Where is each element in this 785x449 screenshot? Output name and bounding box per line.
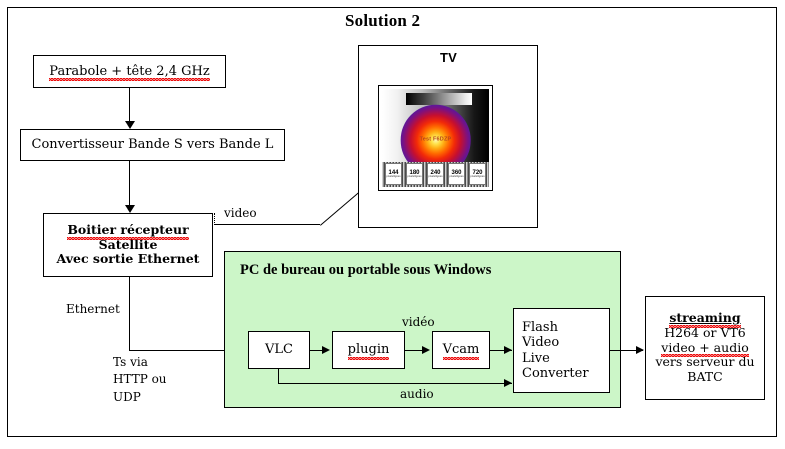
resolution-sub: pixels/lignes — [407, 176, 421, 179]
test-pattern-resolution-cell: 180 pixels/lignes — [406, 163, 424, 185]
edge-convertisseur-boitier — [129, 161, 130, 207]
node-streaming: streaming H264 or VT6 video + audio vers… — [645, 296, 765, 400]
arrow-down-convertisseur — [125, 121, 135, 129]
resolution-sub: pixels/lignes — [428, 176, 442, 179]
node-vlc: VLC — [248, 331, 310, 369]
edge-label-video: video — [224, 205, 257, 222]
node-convertisseur: Convertisseur Bande S vers Bande L — [20, 129, 285, 161]
edge-label-audio: audio — [400, 386, 434, 403]
node-vcam-label: Vcam — [443, 342, 480, 357]
edge-audio-down — [278, 369, 279, 384]
test-pattern-resolution-cell: 720 pixels/lignes — [469, 163, 487, 185]
arrow-to-vcam — [422, 346, 430, 354]
edge-label-ethernet: Ethernet — [66, 301, 120, 318]
node-parabole-label: Parabole + tête 2,4 GHz — [49, 64, 209, 79]
node-convertisseur-label: Convertisseur Bande S vers Bande L — [32, 137, 274, 152]
node-streaming-title: streaming — [669, 311, 740, 326]
edge-label-video-accent: vidéo — [402, 314, 435, 331]
resolution-sub: pixels/lignes — [449, 176, 463, 179]
node-flash-line2: Video — [522, 335, 559, 350]
node-boitier-recepteur: Boitier récepteur Satellite Avec sortie … — [43, 213, 213, 277]
node-flash-video-live-converter: Flash Video Live Converter — [513, 308, 610, 393]
test-pattern-resolution-cell: 360 pixels/lignes — [448, 163, 466, 185]
diagram-canvas: Solution 2 Parabole + tête 2,4 GHz Conve… — [0, 0, 785, 449]
edge-label-ts-via: Ts via HTTP ou UDP — [113, 354, 167, 406]
node-plugin: plugin — [332, 331, 405, 369]
page-title: Solution 2 — [345, 11, 420, 31]
node-streaming-line4: BATC — [687, 369, 722, 384]
resolution-sub: pixels/lignes — [470, 176, 484, 179]
arrow-to-streaming — [636, 346, 644, 354]
test-pattern-resolution-cell: 144 pixels/lignes — [385, 163, 403, 185]
node-plugin-label: plugin — [348, 342, 390, 357]
test-pattern-resolution-cell: 240 pixels/lignes — [427, 163, 445, 185]
test-pattern-center-text: Test F6DZP — [420, 137, 452, 143]
node-tv-title: TV — [440, 50, 457, 65]
edge-video-horizontal — [214, 224, 320, 225]
tv-test-pattern: Test F6DZP 144 pixels/lignes 180 pixels/… — [382, 89, 489, 187]
node-parabole: Parabole + tête 2,4 GHz — [33, 55, 226, 88]
edge-audio-horizontal — [278, 383, 512, 384]
panel-pc-title: PC de bureau ou portable sous Windows — [240, 262, 491, 279]
node-streaming-line2: video + audio — [661, 341, 748, 356]
node-flash-line1: Flash — [522, 320, 558, 335]
node-vlc-label: VLC — [265, 342, 293, 357]
arrow-to-plugin — [322, 346, 330, 354]
arrow-down-boitier — [125, 205, 135, 213]
node-flash-line3: Live — [522, 351, 550, 366]
node-vcam: Vcam — [432, 331, 490, 369]
node-boitier-line3: Avec sortie Ethernet — [57, 251, 200, 266]
arrow-audio-to-flash — [504, 379, 512, 387]
test-pattern-grayscale-bar — [406, 93, 472, 105]
resolution-sub: pixels/lignes — [386, 176, 400, 179]
tv-screen: Test F6DZP 144 pixels/lignes 180 pixels/… — [378, 85, 493, 191]
test-pattern-resolution-strip: 144 pixels/lignes 180 pixels/lignes 240 … — [382, 162, 489, 187]
node-boitier-line1: Boitier récepteur — [67, 223, 188, 238]
node-flash-line4: Converter — [522, 366, 589, 381]
edge-parabole-convertisseur — [129, 88, 130, 124]
edge-ethernet-vertical — [129, 277, 130, 351]
arrow-to-flash-video — [504, 346, 512, 354]
